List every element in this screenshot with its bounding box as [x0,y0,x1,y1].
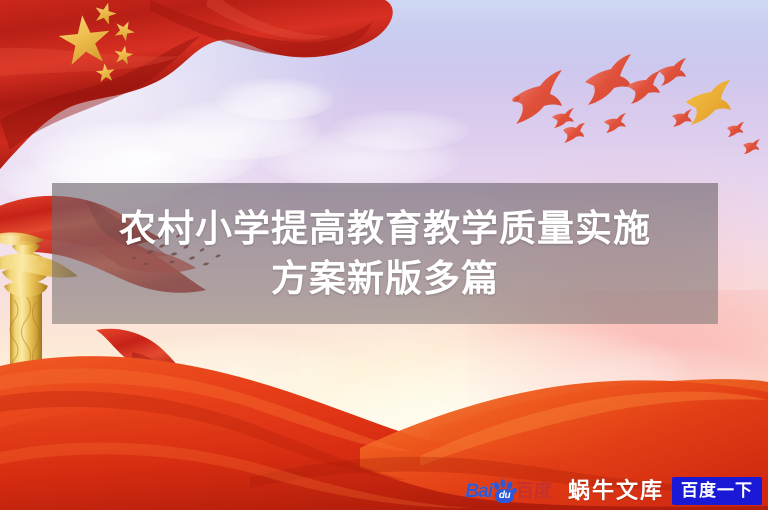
dove-flock [511,54,760,154]
bird-icon [686,80,731,125]
banner-image: 农村小学提高教育教学质量实施 方案新版多篇 [0,0,768,510]
bird-icon [552,108,574,128]
bird-icon [627,71,660,104]
site-name-watermark: 蜗牛文库 [568,480,664,502]
page-title-line-1: 农村小学提高教育教学质量实施 [119,204,651,254]
bird-icon [585,54,632,105]
bird-icon [563,123,585,143]
bird-icon [672,109,692,127]
baidu-search-button[interactable]: 百度一下 [672,477,762,505]
bird-icon [658,58,686,86]
baidu-paw-icon: du [491,479,517,503]
bird-icon [743,139,760,154]
baidu-latin-text: Bai [465,482,492,501]
baidu-du-badge: du [495,489,514,503]
baidu-logo[interactable]: Bai du 百度 [465,478,552,504]
chinese-national-flag [0,0,393,176]
watermark-bar: Bai du 百度 蜗牛文库 百度一下 [465,474,768,508]
bird-icon [727,122,744,137]
baidu-chinese-text: 百度 [516,482,552,500]
bird-icon [604,113,626,133]
